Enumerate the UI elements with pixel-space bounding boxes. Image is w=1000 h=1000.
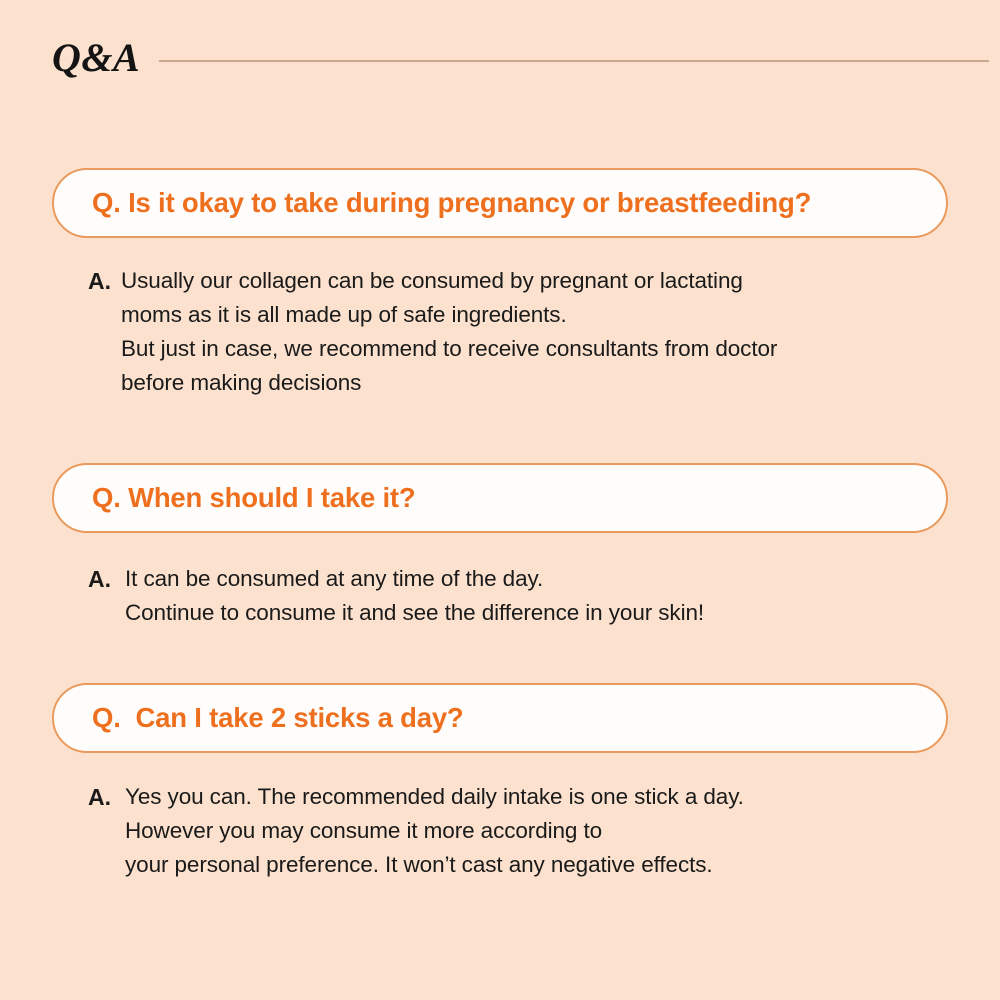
answer-text: It can be consumed at any time of the da… bbox=[125, 562, 704, 630]
answer-text: Yes you can. The recommended daily intak… bbox=[125, 780, 744, 882]
answer: A. It can be consumed at any time of the… bbox=[88, 562, 1000, 630]
answer: A. Yes you can. The recommended daily in… bbox=[88, 780, 1000, 882]
qa-item: Q. When should I take it? A. It can be c… bbox=[0, 463, 1000, 630]
qa-item: Q. Is it okay to take during pregnancy o… bbox=[0, 168, 1000, 400]
answer-label: A. bbox=[88, 264, 111, 298]
answer-label: A. bbox=[88, 562, 111, 596]
question-text: Q. Is it okay to take during pregnancy o… bbox=[92, 189, 811, 217]
qa-item: Q. Can I take 2 sticks a day? A. Yes you… bbox=[0, 683, 1000, 882]
header-divider bbox=[159, 60, 989, 62]
question-text: Q. When should I take it? bbox=[92, 484, 415, 512]
qa-page: Q&A Q. Is it okay to take during pregnan… bbox=[0, 0, 1000, 1000]
answer-text: Usually our collagen can be consumed by … bbox=[121, 264, 777, 400]
page-title: Q&A bbox=[52, 38, 140, 78]
question-text: Q. Can I take 2 sticks a day? bbox=[92, 704, 464, 732]
question-pill[interactable]: Q. When should I take it? bbox=[52, 463, 948, 533]
question-pill[interactable]: Q. Can I take 2 sticks a day? bbox=[52, 683, 948, 753]
page-header: Q&A bbox=[0, 32, 1000, 84]
question-pill[interactable]: Q. Is it okay to take during pregnancy o… bbox=[52, 168, 948, 238]
answer: A. Usually our collagen can be consumed … bbox=[88, 264, 1000, 400]
answer-label: A. bbox=[88, 780, 111, 814]
